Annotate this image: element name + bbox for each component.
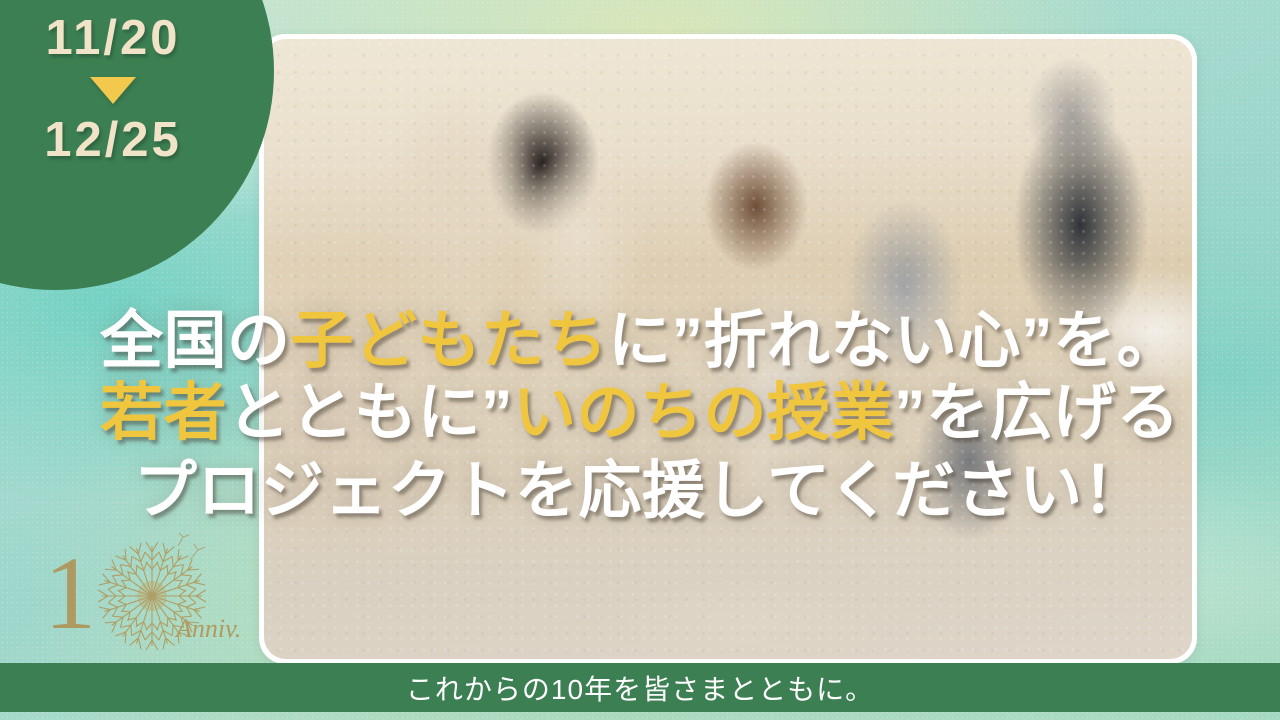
headline: 全国の子どもたちに”折れない心”を。 若者とともに”いのちの授業”を広げる プロ…: [0, 306, 1280, 527]
headline-text: 全国の: [100, 306, 291, 376]
headline-text: プロジェクトを応援してください！: [134, 456, 1146, 526]
campaign-banner: 11/20 12/25 1: [0, 0, 1280, 720]
headline-accent-text: 子どもたち: [291, 306, 609, 376]
headline-text: ”を広げる: [894, 378, 1180, 448]
headline-line-1: 全国の子どもたちに”折れない心”を。: [0, 306, 1280, 378]
headline-line-2: 若者とともに”いのちの授業”を広げる: [0, 378, 1280, 450]
headline-accent-text: いのちの授業: [513, 378, 894, 448]
headline-text: とともに”: [227, 378, 513, 448]
headline-line-3: プロジェクトを応援してください！: [0, 456, 1280, 528]
headline-text: に”折れない心”を。: [608, 306, 1180, 376]
headline-accent-text: 若者: [100, 378, 227, 448]
footer-message: これからの10年を皆さまとともに。: [406, 668, 874, 708]
campaign-end-date: 12/25: [44, 116, 182, 165]
footer-bar: これからの10年を皆さまとともに。: [0, 663, 1280, 712]
triangle-down-icon: [90, 77, 136, 104]
campaign-period-badge: 11/20 12/25: [8, 14, 218, 165]
campaign-start-date: 11/20: [46, 14, 181, 63]
